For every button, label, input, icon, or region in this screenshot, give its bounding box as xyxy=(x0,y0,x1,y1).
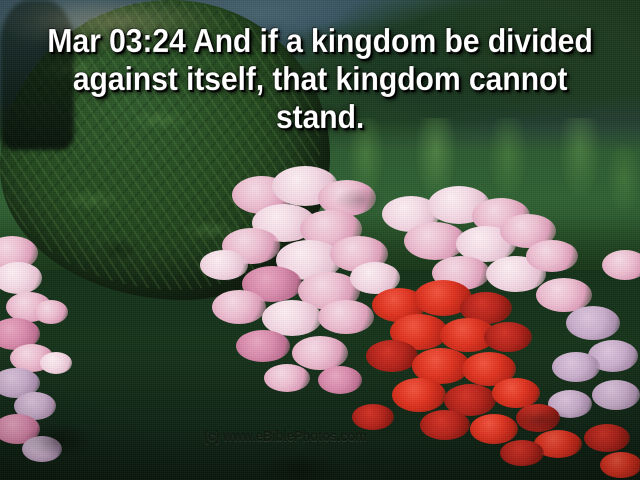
verse-caption-text: Mar 03:24 And if a kingdom be divided ag… xyxy=(26,22,615,136)
scripture-photo-image: Mar 03:24 And if a kingdom be divided ag… xyxy=(0,0,640,480)
